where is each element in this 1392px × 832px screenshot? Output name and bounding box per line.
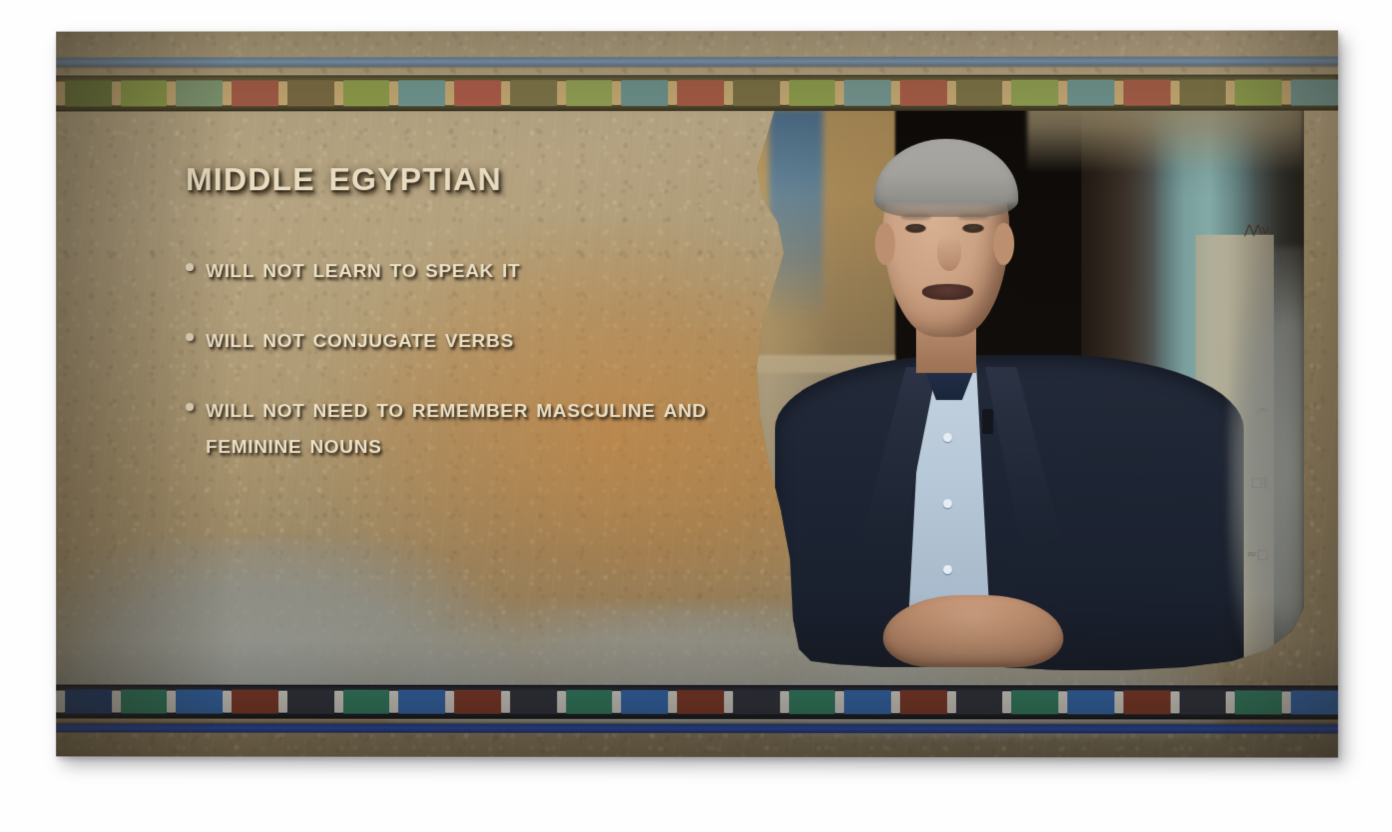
top-band-tile bbox=[1235, 80, 1282, 106]
top-band-separator bbox=[891, 81, 900, 105]
top-band-separator bbox=[445, 81, 454, 105]
top-band-separator bbox=[167, 81, 176, 105]
top-band-tile bbox=[789, 80, 836, 106]
bottom-band-tile bbox=[566, 690, 613, 714]
top-band-tile-strip bbox=[56, 74, 1338, 111]
bottom-band-separator bbox=[390, 691, 399, 713]
top-band-tile bbox=[900, 80, 947, 106]
bullet-dot-icon bbox=[186, 263, 194, 271]
top-band-separator bbox=[612, 81, 621, 105]
top-band-tile bbox=[844, 80, 891, 106]
slide-title: Middle Egyptian bbox=[186, 151, 730, 199]
top-band-tile bbox=[287, 80, 334, 106]
bottom-band-separator bbox=[947, 691, 956, 713]
top-band-tile bbox=[621, 80, 668, 106]
top-band-separator bbox=[278, 81, 287, 105]
top-band-tile bbox=[1068, 80, 1115, 106]
presenter-figure bbox=[703, 91, 1304, 692]
top-band-tile bbox=[343, 80, 390, 106]
bottom-band-separator bbox=[445, 691, 454, 713]
bottom-band-separator bbox=[278, 691, 287, 713]
top-band-tile bbox=[1291, 79, 1338, 105]
top-band-separator bbox=[501, 81, 510, 105]
top-band-separator bbox=[1059, 81, 1068, 105]
bottom-band-separator bbox=[1059, 691, 1068, 713]
top-band-tile bbox=[1123, 80, 1170, 106]
bottom-band-tile bbox=[844, 690, 891, 714]
top-decorative-band bbox=[56, 48, 1338, 117]
shirt-button-2 bbox=[943, 499, 952, 508]
presenter-video-panel[interactable]: ⋀Λν ⱼ≈ □‖ ≈□ bbox=[703, 91, 1304, 692]
bullet-text: Will not need to remember masculine and … bbox=[206, 390, 730, 462]
bottom-band-tile-strip bbox=[56, 685, 1338, 720]
bullet-text: Will not learn to speak it bbox=[206, 250, 521, 286]
bottom-band-separator bbox=[1114, 691, 1123, 713]
top-band-tile bbox=[121, 80, 168, 106]
top-band-separator bbox=[1282, 81, 1291, 105]
bottom-band-separator bbox=[167, 691, 176, 713]
bottom-band-tile bbox=[232, 690, 279, 714]
bottom-band-separator bbox=[891, 691, 900, 713]
top-band-separator bbox=[334, 81, 343, 105]
bottom-band-tile bbox=[1068, 690, 1115, 714]
top-band-separator bbox=[1170, 81, 1179, 105]
top-band-tile bbox=[733, 80, 780, 106]
bottom-band-tile bbox=[510, 690, 557, 714]
top-band-tile bbox=[1012, 80, 1059, 106]
bottom-decorative-band bbox=[56, 677, 1338, 740]
torn-edge-right-overlap bbox=[1228, 247, 1304, 692]
top-band-separator bbox=[390, 81, 399, 105]
top-band-tile bbox=[65, 80, 112, 106]
eyebrow-left bbox=[901, 214, 931, 220]
bottom-band-separator bbox=[223, 691, 232, 713]
top-band-separator bbox=[557, 81, 566, 105]
lapel-microphone-icon bbox=[982, 409, 993, 434]
top-band-separator bbox=[56, 82, 65, 106]
bottom-band-separator bbox=[1282, 691, 1291, 713]
bottom-band-tile bbox=[1235, 690, 1282, 714]
bullet-dot-icon bbox=[186, 333, 194, 341]
top-band-tile bbox=[956, 80, 1003, 106]
bottom-band-stripe bbox=[56, 723, 1338, 733]
bullet-dot-icon bbox=[186, 403, 194, 411]
bottom-band-tile bbox=[956, 690, 1003, 714]
bottom-band-tile bbox=[65, 690, 112, 714]
bottom-band-tile bbox=[1012, 690, 1059, 714]
bottom-band-tile bbox=[399, 690, 446, 714]
top-band-separator bbox=[112, 81, 121, 105]
bottom-band-tile bbox=[1123, 690, 1170, 714]
top-band-separator bbox=[1003, 81, 1012, 105]
ear-left bbox=[875, 223, 895, 265]
bottom-band-separator bbox=[112, 691, 121, 713]
top-band-separator bbox=[724, 81, 733, 105]
bottom-band-separator bbox=[612, 691, 621, 713]
bullet-item: Will not need to remember masculine and … bbox=[186, 390, 730, 462]
top-band-tile bbox=[232, 80, 279, 106]
bottom-band-tile bbox=[677, 690, 724, 714]
bottom-band-separator bbox=[334, 691, 343, 713]
bullet-text: Will not conjugate verbs bbox=[206, 320, 514, 356]
bottom-band-separator bbox=[668, 691, 677, 713]
bottom-band-separator bbox=[724, 691, 733, 713]
hair bbox=[874, 139, 1018, 217]
bottom-band-separator bbox=[1170, 691, 1179, 713]
bottom-band-separator bbox=[1003, 691, 1012, 713]
bullet-item: Will not learn to speak it bbox=[186, 250, 730, 286]
screenshot-root: ⋀Λν ⱼ≈ □‖ ≈□ bbox=[0, 0, 1392, 832]
top-band-stripe bbox=[56, 56, 1338, 66]
bottom-band-tile bbox=[343, 690, 390, 714]
bottom-band-separator bbox=[780, 691, 789, 713]
bottom-band-tile bbox=[176, 690, 223, 714]
shirt-button-1 bbox=[943, 433, 952, 442]
top-band-tile bbox=[1179, 80, 1226, 106]
top-band-separator bbox=[947, 81, 956, 105]
top-band-separator bbox=[223, 81, 232, 105]
bottom-band-tile bbox=[789, 690, 836, 714]
bullet-item: Will not conjugate verbs bbox=[186, 320, 730, 356]
nose bbox=[937, 235, 961, 271]
bottom-band-tile bbox=[121, 690, 168, 714]
top-band-separator bbox=[780, 81, 789, 105]
clasped-hands bbox=[883, 595, 1063, 667]
mouth bbox=[922, 284, 973, 300]
bottom-band-separator bbox=[56, 691, 65, 713]
ear-right bbox=[994, 223, 1014, 265]
top-band-tile bbox=[566, 80, 613, 106]
bottom-band-tile bbox=[733, 690, 780, 714]
bottom-band-tile bbox=[621, 690, 668, 714]
top-band-separator bbox=[1226, 81, 1235, 105]
bullet-list: Will not learn to speak it Will not conj… bbox=[186, 250, 730, 462]
top-band-tile bbox=[454, 80, 501, 106]
bottom-band-tile bbox=[1179, 690, 1226, 714]
top-band-separator bbox=[835, 81, 844, 105]
top-band-tile bbox=[176, 80, 223, 106]
bottom-band-separator bbox=[1226, 691, 1235, 713]
bottom-band-tile bbox=[454, 690, 501, 714]
top-band-separator bbox=[1114, 81, 1123, 105]
bottom-band-tile bbox=[287, 690, 334, 714]
eyebrow-right bbox=[958, 214, 988, 220]
top-band-tile bbox=[677, 80, 724, 106]
shirt-button-3 bbox=[943, 565, 952, 574]
bottom-band-separator bbox=[835, 691, 844, 713]
bottom-band-separator bbox=[557, 691, 566, 713]
presentation-slide: ⋀Λν ⱼ≈ □‖ ≈□ bbox=[56, 30, 1338, 757]
top-band-tile bbox=[510, 80, 557, 106]
bottom-band-separator bbox=[501, 691, 510, 713]
top-band-separator bbox=[668, 81, 677, 105]
top-band-tile bbox=[399, 80, 446, 106]
bottom-band-tile bbox=[1291, 690, 1338, 714]
slide-text-column: Middle Egyptian Will not learn to speak … bbox=[186, 151, 730, 496]
bottom-band-tile bbox=[900, 690, 947, 714]
